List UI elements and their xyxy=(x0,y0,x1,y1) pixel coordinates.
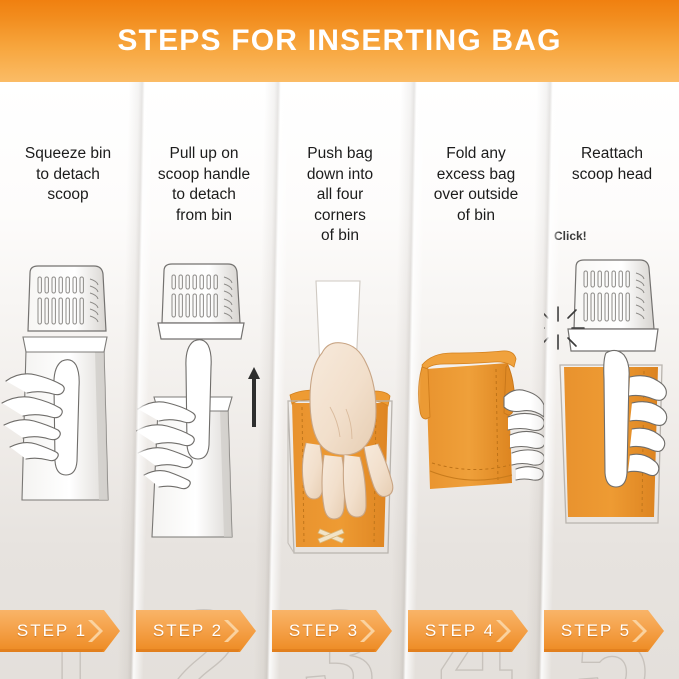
step-caption-3: Push bagdown intoall fourcornersof bin xyxy=(276,144,404,247)
step-banner-label-4: STEP 4 xyxy=(408,610,512,652)
step-column-3: Push bagdown intoall fourcornersof bin xyxy=(272,82,408,679)
step-caption-5: Reattachscoop head xyxy=(548,144,676,185)
step-illustration-1 xyxy=(0,257,136,587)
step-column-5: Reattachscoop head xyxy=(544,82,679,679)
step-banner-label-2: STEP 2 xyxy=(136,610,240,652)
step-banner-3: STEP 3 xyxy=(272,610,392,652)
step-column-4: Fold anyexcess bagover outsideof bin xyxy=(408,82,544,679)
step-illustration-2 xyxy=(136,257,272,587)
click-annotation: Click! xyxy=(554,229,587,243)
step-banner-label-5: STEP 5 xyxy=(544,610,648,652)
step-banner-4: STEP 4 xyxy=(408,610,528,652)
header-banner: STEPS FOR INSERTING BAG xyxy=(0,0,679,82)
infographic-page: STEPS FOR INSERTING BAG Squeeze binto de… xyxy=(0,0,679,679)
step-caption-2: Pull up onscoop handleto detachfrom bin xyxy=(140,144,268,226)
step-columns: Squeeze binto detachscoop xyxy=(0,82,679,679)
step-caption-4: Fold anyexcess bagover outsideof bin xyxy=(412,144,540,226)
step-banner-label-1: STEP 1 xyxy=(0,610,104,652)
step-column-2: Pull up onscoop handleto detachfrom bin xyxy=(136,82,272,679)
page-title: STEPS FOR INSERTING BAG xyxy=(117,24,561,58)
step-banner-row: STEP 1 STEP 2 STEP 3 xyxy=(0,610,679,679)
step-banner-5: STEP 5 xyxy=(544,610,664,652)
step-banner-2: STEP 2 xyxy=(136,610,256,652)
steps-board: Squeeze binto detachscoop xyxy=(0,82,679,679)
step-caption-1: Squeeze binto detachscoop xyxy=(4,144,132,206)
step-illustration-4 xyxy=(408,257,544,587)
step-illustration-5 xyxy=(544,257,679,587)
step-illustration-3 xyxy=(272,257,408,587)
up-arrow-icon xyxy=(248,367,260,427)
step-banner-label-3: STEP 3 xyxy=(272,610,376,652)
step-banner-1: STEP 1 xyxy=(0,610,120,652)
step-column-1: Squeeze binto detachscoop xyxy=(0,82,136,679)
